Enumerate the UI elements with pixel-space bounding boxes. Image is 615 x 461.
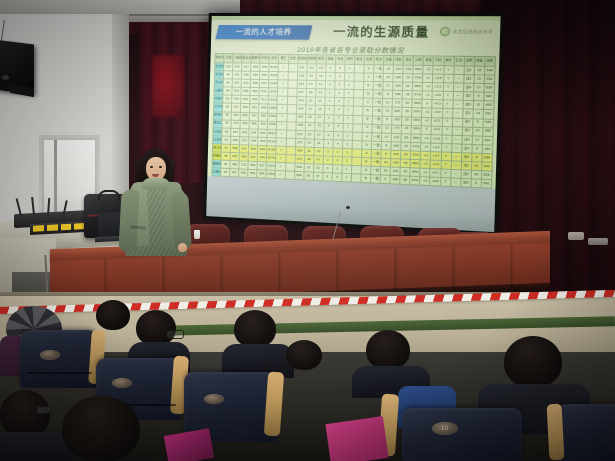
table-cell: 58 <box>401 133 411 142</box>
table-cell: 534 <box>482 136 493 145</box>
table-cell: Y <box>442 126 452 135</box>
table-cell: 240 <box>393 82 403 91</box>
table-cell: 9 <box>382 116 392 125</box>
table-cell: 96% <box>412 100 422 109</box>
table-cell: 336 <box>231 136 240 144</box>
presenter-eye <box>159 166 162 168</box>
table-cell: Y <box>443 74 453 83</box>
table-column-header: 统计 <box>444 56 454 66</box>
slide-top-band <box>212 16 501 21</box>
table-cell: 594 <box>241 104 250 112</box>
table-cell: 542 <box>249 112 258 120</box>
table-cell: 617 <box>242 63 251 71</box>
table-cell: B <box>363 82 373 91</box>
table-cell: 548 <box>484 66 495 75</box>
table-cell: 512 <box>259 96 268 104</box>
table-cell: 注3 <box>462 109 473 118</box>
table-cell: 98% <box>413 82 423 91</box>
table-cell: 3 <box>324 131 334 140</box>
table-cell: 一批 <box>372 116 382 125</box>
table-cell: 356 <box>258 137 267 146</box>
table-cell: 537 <box>295 130 305 139</box>
table-cell: 541 <box>259 88 268 96</box>
table-cell <box>286 122 296 131</box>
table-cell: 26 <box>401 125 411 134</box>
table-cell: 39 <box>403 74 413 83</box>
table-cell: +1.8 <box>431 134 441 143</box>
table-cell: — <box>452 126 462 135</box>
table-column-header: 级差 <box>326 55 336 64</box>
table-cell: 551 <box>297 64 307 72</box>
table-cell: B <box>361 157 371 166</box>
table-cell: 210 <box>393 65 403 74</box>
table-cell: 1 <box>344 73 354 82</box>
table-row-label: 山东省（理工） <box>213 127 222 135</box>
table-cell: √ <box>277 129 287 138</box>
table-cell: 188 <box>393 74 403 83</box>
table-cell: 524 <box>250 88 259 96</box>
table-column-header: 最低分 <box>251 54 260 63</box>
table-cell: 注3 <box>463 101 474 110</box>
table-column-header: 比例 <box>413 56 423 66</box>
table-cell: 1 <box>343 115 353 124</box>
table-cell: 488 <box>296 122 306 131</box>
table-cell: 26 <box>222 120 231 128</box>
table-cell: 492 <box>296 97 306 106</box>
table-cell: +4 <box>421 134 431 143</box>
table-cell: 58 <box>222 128 231 136</box>
table-column-header: 最高分 <box>242 54 251 63</box>
table-cell: 17 <box>472 136 483 145</box>
table-cell: 16320 <box>268 121 277 130</box>
table-cell: 566 <box>240 120 249 128</box>
table-cell: 552 <box>260 71 269 79</box>
table-cell: 517 <box>232 104 241 112</box>
table-cell: 25 <box>314 122 324 131</box>
table-cell: 485 <box>249 120 258 128</box>
university-seal-icon <box>440 27 450 37</box>
audience-head <box>136 310 176 346</box>
table-cell: 548 <box>251 63 260 71</box>
table-cell: 118 <box>307 64 317 72</box>
table-cell: 2 <box>344 81 354 90</box>
table-cell: 14 <box>473 110 484 119</box>
table-cell <box>287 97 297 106</box>
table-cell: 536 <box>251 71 260 79</box>
table-cell: 3 <box>334 115 344 124</box>
slide: 一流的人才培养 一流的生源质量 北京信息科技大学 2018年各省各专业录取分数情… <box>206 16 500 232</box>
slide-logo: 北京信息科技大学 <box>440 27 493 37</box>
table-cell: 8 <box>383 90 393 99</box>
table-cell: C <box>363 98 373 107</box>
table-cell: 605 <box>240 128 249 136</box>
table-cell: 35 <box>402 108 412 117</box>
table-cell: Y <box>443 66 453 75</box>
table-cell: 64 <box>403 82 413 91</box>
audience-seat[interactable] <box>20 330 98 388</box>
table-cell: 29 <box>315 97 325 106</box>
table-cell: 15 <box>474 75 485 84</box>
table-cell: 63 <box>316 81 326 90</box>
table-cell: 97% <box>411 142 421 151</box>
microphone-icon <box>346 206 350 209</box>
table-cell: 1 <box>342 140 352 149</box>
audience-head <box>62 396 140 461</box>
table-cell: 0 <box>422 100 432 109</box>
table-cell: 344 <box>482 145 493 154</box>
seat-seam <box>26 372 92 374</box>
table-cell: 521 <box>481 162 492 171</box>
screen-canvas: 一流的人才培养 一流的生源质量 北京信息科技大学 2018年各省各专业录取分数情… <box>206 16 500 232</box>
table-column-header: 录取数 <box>307 55 317 64</box>
table-cell: B <box>363 107 373 116</box>
table-cell: 0 <box>421 125 431 134</box>
table-cell: +1.2 <box>433 66 443 75</box>
table-cell: 42 <box>401 142 411 151</box>
table-column-header: 文史 <box>288 54 298 63</box>
table-cell <box>286 113 296 122</box>
table-cell: √ <box>276 138 286 147</box>
table-cell: √ <box>278 72 288 80</box>
bag-handle <box>98 190 120 200</box>
table-cell: 17 <box>473 84 484 93</box>
table-cell: 45 <box>223 87 232 95</box>
slide-section-tag: 一流的人才培养 <box>216 25 313 40</box>
table-cell: 160 <box>391 142 401 151</box>
table-cell: 8 <box>381 150 391 159</box>
table-cell: 527 <box>296 89 306 98</box>
table-cell: 196 <box>393 91 403 100</box>
table-cell: 8 <box>471 153 482 162</box>
table-cell: 一段 <box>371 149 381 158</box>
table-row-label: 辽宁省（理工） <box>214 103 223 111</box>
seat-number-badge: 10 <box>432 422 458 435</box>
table-cell: 一批 <box>372 132 382 141</box>
table-cell: 一批 <box>372 107 382 116</box>
table-cell: 183 <box>392 116 402 125</box>
table-cell: 45 <box>402 91 412 100</box>
table-cell: — <box>453 92 463 101</box>
table-cell: Y <box>441 152 451 161</box>
table-cell: √ <box>277 105 287 114</box>
table-cell: 8 <box>381 141 391 150</box>
table-item <box>588 238 608 245</box>
table-column-header: 理工 <box>279 54 289 63</box>
table-column-header: 分差 <box>384 55 394 65</box>
seat-armrest[interactable] <box>547 404 565 461</box>
table-cell: 4 <box>334 89 344 98</box>
table-cell: - <box>353 115 363 124</box>
table-cell <box>287 105 297 114</box>
table-cell: 5 <box>335 64 345 73</box>
table-cell: +3 <box>423 83 433 92</box>
table-cell: 528 <box>484 84 495 93</box>
table-cell: +0.6 <box>432 91 442 100</box>
table-cell: 516 <box>232 87 241 95</box>
table-cell: 注4 <box>461 144 472 153</box>
table-cell: — <box>451 144 461 153</box>
table-cell: 3 <box>325 72 335 81</box>
table-cell: 96% <box>412 117 422 126</box>
table-cell: 注4 <box>462 135 473 144</box>
table-cell: +2 <box>421 143 431 152</box>
presenter-collar <box>142 178 170 189</box>
table-cell: 531 <box>250 104 259 112</box>
table-cell <box>288 72 298 80</box>
table-cell: 28 <box>402 116 412 125</box>
table-cell: 64 <box>306 80 316 89</box>
table-cell: 472 <box>231 120 240 128</box>
table-row-label: 北京市（理工） <box>215 63 224 71</box>
table-column-header: 备注 <box>355 55 365 65</box>
port-led <box>61 224 72 231</box>
projection-screen: 一流的人才培养 一流的生源质量 北京信息科技大学 2018年各省各专业录取分数情… <box>203 13 504 236</box>
table-cell: +0.2 <box>431 126 441 135</box>
table-cell: - <box>353 123 363 132</box>
table-cell: - <box>354 90 364 99</box>
table-cell: +0.9 <box>432 109 442 118</box>
table-cell: 一批 <box>373 90 383 99</box>
table-column-header: 生源 <box>364 55 374 65</box>
table-cell: 一批 <box>372 141 382 150</box>
table-cell: +1 <box>422 91 432 100</box>
table-cell: 528 <box>250 79 259 87</box>
table-cell: B <box>363 90 373 99</box>
table-cell: 3 <box>333 123 343 132</box>
table-cell: 4 <box>335 73 345 82</box>
table-cell: 5 <box>333 131 343 140</box>
table-cell: 8 <box>473 92 484 101</box>
table-cell: +0.3 <box>432 100 442 109</box>
table-row-label: 内蒙古（理工） <box>214 95 223 103</box>
table-column-header: 同比 <box>433 56 443 66</box>
table-cell: 39 <box>306 72 316 80</box>
table-cell: 注3 <box>462 118 473 127</box>
table-cell: - <box>354 73 364 82</box>
table-cell: 489 <box>250 96 259 104</box>
speaker-driver <box>2 75 9 80</box>
table-cell: √ <box>277 121 287 130</box>
table-cell: +0.5 <box>432 117 442 126</box>
table-cell: 532 <box>233 63 242 71</box>
table-cell: 598 <box>242 71 251 79</box>
table-cell: 118 <box>403 65 413 74</box>
table-cell: 97% <box>413 74 423 83</box>
table-cell: 599 <box>295 147 305 156</box>
table-cell: 1 <box>344 98 354 107</box>
table-cell: 一批 <box>373 73 383 82</box>
seat-number-label: 10 <box>441 426 449 432</box>
audience-seat[interactable] <box>402 408 522 461</box>
table-cell: Y <box>442 100 452 109</box>
table-cell: 4 <box>333 140 343 149</box>
table-cell: 5 <box>335 81 345 90</box>
table-cell: 16 <box>471 162 482 171</box>
table-cell: 一批 <box>372 124 382 133</box>
table-cell: 45 <box>306 89 316 98</box>
table-cell: +2 <box>422 108 432 117</box>
table-cell: — <box>452 100 462 109</box>
table-cell: Y <box>441 161 451 170</box>
table-cell: 3 <box>325 81 335 90</box>
table-cell: 3 <box>323 139 333 148</box>
seat-number-badge <box>112 378 132 388</box>
table-cell: +1.5 <box>433 83 443 92</box>
table-corner-header: 省份/专业 <box>215 54 224 63</box>
table-cell: 531 <box>297 80 307 88</box>
table-cell: 508 <box>258 121 267 129</box>
lecture-hall-photo: 一流的人才培养 一流的生源质量 北京信息科技大学 2018年各省各专业录取分数情… <box>0 0 615 461</box>
table-cell: - <box>352 157 362 166</box>
table-cell: 2 <box>343 132 353 141</box>
table-cell: 42 <box>304 139 314 148</box>
table-cell: 175 <box>392 99 402 108</box>
table-cell: Y <box>443 92 453 101</box>
table-column-header: 报到 <box>316 55 326 64</box>
table-cell: 8120 <box>269 63 278 71</box>
table-cell: 549 <box>259 104 268 112</box>
table-cell: — <box>453 66 463 75</box>
table-column-header: 排名 <box>394 56 404 66</box>
table-cell: 58 <box>305 130 315 139</box>
table-cell: +2 <box>420 160 430 169</box>
table-cell: 521 <box>232 71 241 79</box>
table-cell: — <box>451 161 461 170</box>
table-cell: — <box>453 83 463 92</box>
table-cell: 44 <box>315 89 325 98</box>
slide-title: 一流的生源质量 <box>317 23 447 40</box>
table-cell: - <box>352 149 362 158</box>
table-cell: 485 <box>482 127 493 136</box>
table-cell: +3 <box>421 151 431 160</box>
table-cell: 11 <box>473 101 484 110</box>
table-cell: √ <box>279 63 289 71</box>
table-cell: 52140 <box>267 137 276 146</box>
table-cell: 347 <box>295 138 305 147</box>
table-cell: 注1 <box>463 75 474 84</box>
presenter-mouth <box>152 174 159 177</box>
table-cell: - <box>353 98 363 107</box>
table-cell: A <box>362 141 372 150</box>
audience-head <box>504 336 562 388</box>
table-cell: 65 <box>223 79 232 87</box>
table-cell: 34 <box>315 106 325 115</box>
table-cell: — <box>451 135 461 144</box>
table-cell: 17 <box>383 82 393 91</box>
table-cell: 18760 <box>269 88 278 96</box>
table-column-header: 汇总 <box>454 56 464 66</box>
table-cell: 4 <box>334 106 344 115</box>
table-cell: 3 <box>324 123 334 132</box>
audience-head <box>286 340 322 370</box>
table-cell: 36 <box>304 147 314 156</box>
table-cell: 45380 <box>267 146 276 155</box>
table-cell: +1.4 <box>431 152 441 161</box>
slide-logo-text: 北京信息科技大学 <box>452 28 493 35</box>
table-cell: 36120 <box>267 129 276 138</box>
seat-number-badge <box>204 394 224 404</box>
table-column-header: 最终 <box>484 57 495 67</box>
table-column-header: 计划 <box>224 54 233 63</box>
table-cell: 一批 <box>371 158 381 167</box>
table-cell: √ <box>277 113 287 122</box>
table-cell: 14230 <box>268 96 277 104</box>
table-cell: 注4 <box>462 127 473 136</box>
table-cell: Y <box>442 109 452 118</box>
audience-seat[interactable] <box>556 404 615 461</box>
table-cell: 551 <box>258 129 267 138</box>
table-cell: Y <box>441 135 451 144</box>
table-cell: +0.8 <box>433 74 443 83</box>
presenter-arm <box>118 190 139 253</box>
table-cell: 30 <box>402 99 412 108</box>
table-cell: Y <box>441 143 451 152</box>
table-cell: 534 <box>249 129 258 137</box>
table-column-header: 批次 <box>374 55 384 65</box>
port-led <box>33 225 44 232</box>
table-cell: 534 <box>296 105 306 114</box>
table-cell: 98% <box>411 134 421 143</box>
table-column-header: 线差 <box>474 56 485 66</box>
table-cell: 531 <box>483 110 494 119</box>
table-cell: — <box>453 74 463 83</box>
table-row-label: 江苏省（理工） <box>213 136 222 144</box>
table-cell: 344 <box>249 137 258 146</box>
table-cell: +2 <box>423 65 433 74</box>
table-column-header: 增减 <box>423 56 433 66</box>
table-cell: 注2 <box>463 83 474 92</box>
table-cell: 1 <box>342 148 352 157</box>
table-cell: - <box>354 81 364 90</box>
table-cell: 3 <box>324 106 334 115</box>
table-cell: 一批 <box>373 99 383 108</box>
table-cell: 524 <box>483 92 494 101</box>
table-cell: 1 <box>343 106 353 115</box>
table-cell: 601 <box>241 79 250 87</box>
eyeglasses-icon <box>166 330 184 339</box>
table-cell: 8 <box>472 144 483 153</box>
table-cell: — <box>451 152 461 161</box>
table-cell: 547 <box>260 80 269 88</box>
table-cell: 一批 <box>374 65 384 74</box>
table-cell: 1 <box>344 90 354 99</box>
table-cell: 2 <box>345 64 355 73</box>
table-cell: 372 <box>240 136 249 144</box>
table-cell: - <box>353 107 363 116</box>
table-cell: 21450 <box>269 80 278 88</box>
audience-head <box>366 330 410 370</box>
table-cell: 204 <box>391 159 401 168</box>
table-cell: 232 <box>391 133 401 142</box>
table-cell: 120 <box>224 63 233 71</box>
table-cell: 511 <box>232 79 241 87</box>
table-cell <box>287 80 297 88</box>
table-cell: 4 <box>333 148 343 157</box>
presenter <box>118 148 192 256</box>
table-item <box>568 232 584 240</box>
table-cell: 40 <box>223 71 232 79</box>
table-row-label: 吉林省（理工） <box>213 111 222 119</box>
table-cell: 13 <box>382 124 392 133</box>
table-cell: 10560 <box>268 113 277 121</box>
table-cell: 14 <box>382 107 392 116</box>
table-cell: A <box>364 73 374 82</box>
table-cell: 97% <box>411 151 421 160</box>
handout-booklet[interactable] <box>325 416 388 461</box>
table-column-header: 提档线 <box>297 54 307 63</box>
table-cell: 566 <box>260 63 269 71</box>
table-cell <box>286 130 296 139</box>
